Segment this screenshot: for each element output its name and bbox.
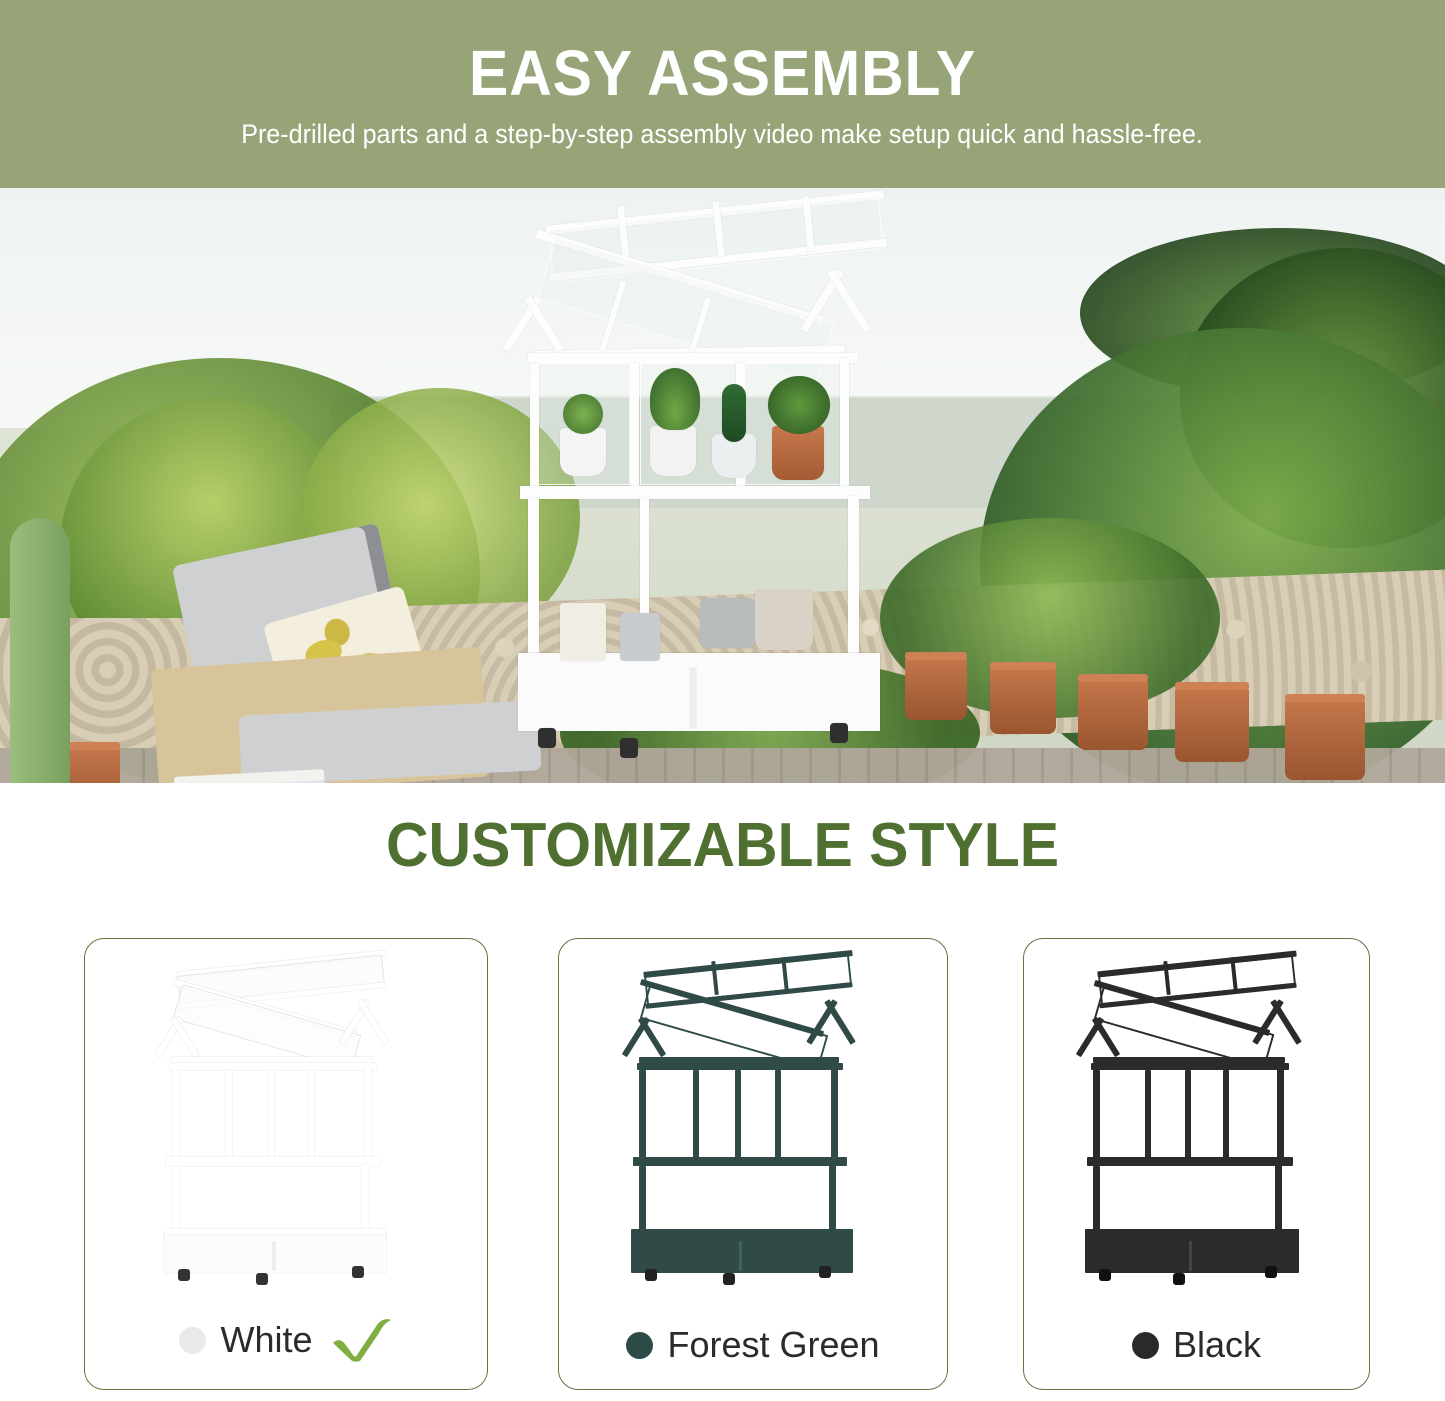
terracotta-pot	[990, 668, 1056, 734]
hero-lifestyle-photo	[0, 188, 1445, 783]
product-diagram	[623, 953, 883, 1279]
variant-label-white: White	[220, 1322, 312, 1358]
greenhouse-plant-stand	[500, 198, 930, 768]
product-diagram	[156, 953, 416, 1279]
section-title: CUSTOMIZABLE STYLE	[36, 815, 1409, 877]
variant-card-black[interactable]: Black	[1023, 938, 1370, 1390]
variant-illustration-forest-green	[559, 953, 947, 1283]
terracotta-pot	[1078, 680, 1148, 750]
banner-title: EASY ASSEMBLY	[469, 41, 976, 105]
product-feature-image: EASY ASSEMBLY Pre-drilled parts and a st…	[0, 0, 1445, 1401]
cactus-plant	[10, 518, 70, 783]
product-diagram	[1077, 953, 1317, 1279]
color-swatch-white[interactable]	[179, 1327, 206, 1354]
variant-card-white[interactable]: White	[84, 938, 488, 1390]
variant-footer-forest-green: Forest Green	[559, 1327, 947, 1363]
color-swatch-forest-green[interactable]	[626, 1332, 653, 1359]
variant-illustration-black	[1024, 953, 1369, 1283]
variant-card-forest-green[interactable]: Forest Green	[558, 938, 948, 1390]
terracotta-pot	[1175, 688, 1249, 762]
terracotta-pot	[1285, 700, 1365, 780]
variant-label-forest-green: Forest Green	[667, 1327, 879, 1363]
variant-footer-black: Black	[1024, 1327, 1369, 1363]
color-swatch-black[interactable]	[1132, 1332, 1159, 1359]
variant-label-black: Black	[1173, 1327, 1261, 1363]
variant-footer-white: White	[85, 1317, 487, 1363]
variant-illustration-white	[85, 953, 487, 1283]
variant-card-list: White	[0, 938, 1445, 1393]
banner-subtitle: Pre-drilled parts and a step-by-step ass…	[242, 121, 1204, 148]
easy-assembly-banner: EASY ASSEMBLY Pre-drilled parts and a st…	[0, 0, 1445, 188]
selected-check-icon	[327, 1317, 393, 1363]
